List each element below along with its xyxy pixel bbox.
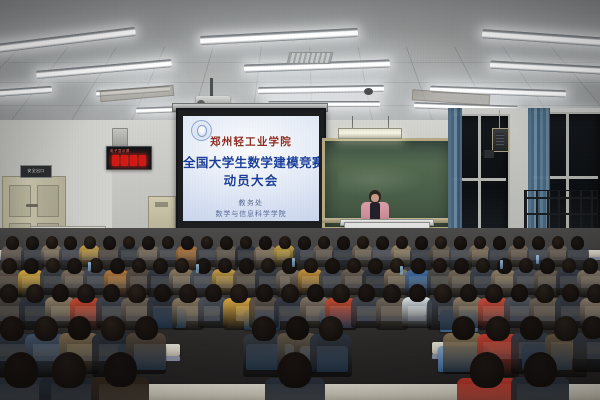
window-guardrail <box>524 190 598 232</box>
presenter-face <box>371 194 379 202</box>
audience-member-head <box>34 316 58 341</box>
door-handle[interactable] <box>26 204 38 207</box>
audience-member-head <box>519 258 533 273</box>
audience-member-head <box>89 258 103 273</box>
water-bottle <box>500 260 503 269</box>
audience-member-head <box>358 284 375 302</box>
audience-member-head <box>318 236 330 249</box>
audience-member-head <box>337 236 350 250</box>
audience-member-head <box>259 236 272 250</box>
audience-member-head <box>513 236 525 249</box>
audience-member-head <box>128 284 146 303</box>
speaker-wire <box>499 110 500 128</box>
audience-member-head <box>84 236 96 249</box>
audience-member-head <box>135 316 158 340</box>
audience-member-head <box>460 284 477 302</box>
audience-member-head <box>68 316 91 340</box>
audience-member-head <box>153 258 168 274</box>
audience-member-head <box>104 352 137 387</box>
audience-member-head <box>493 236 506 250</box>
audience-member-head <box>583 258 598 274</box>
audience-member-head <box>6 236 19 250</box>
audience-member-head <box>162 236 174 249</box>
audience-member-head <box>67 258 82 274</box>
presentation-slide: 郑州轻工业学院 全国大学生数学建模竞赛 动员大会 教务处 数学与信息科学学院 <box>183 116 319 221</box>
wall-speaker <box>492 128 509 152</box>
water-bottle <box>196 264 199 273</box>
led-digit <box>130 155 137 166</box>
red-led-display: 电子显示屏 <box>106 146 152 170</box>
audience-member-head <box>452 316 475 340</box>
audience-member-head <box>123 236 135 249</box>
audience-member-head <box>181 236 194 250</box>
audience-member-head <box>409 284 426 302</box>
audience-member-head <box>46 236 58 249</box>
audience-member-head <box>220 236 233 250</box>
audience-member-head <box>77 284 95 303</box>
wall-utility-box <box>148 196 176 232</box>
led-digit <box>112 155 119 166</box>
slide-title-line1: 全国大学生数学建模竞赛 <box>183 152 319 171</box>
audience-member-head <box>261 258 275 273</box>
audience-member-head <box>132 258 146 273</box>
audience-member-head <box>103 284 120 302</box>
water-bottle <box>536 255 539 264</box>
audience-member-head <box>286 316 309 340</box>
audience-member-head <box>304 258 318 273</box>
audience-member-head <box>179 284 197 303</box>
audience-member-head <box>110 258 125 274</box>
door-panel <box>37 185 59 217</box>
lecture-hall-photo: 安全出口 电子显示屏 郑州轻工业学院 全国大学生数学建模竞赛 动员大会 教务处 … <box>0 0 600 400</box>
water-bottle <box>88 262 91 271</box>
audience-member-head <box>562 258 576 273</box>
audience-member-head <box>552 236 564 249</box>
audience-member-head <box>434 284 452 303</box>
exit-sign-label: 安全出口 <box>21 168 51 174</box>
audience-member-head <box>46 258 60 273</box>
audience-member-head <box>26 236 39 250</box>
board-light-wire <box>388 116 389 128</box>
audience-member-head <box>26 284 44 303</box>
surveillance-camera-icon <box>484 150 494 158</box>
slide-title-line2: 动员大会 <box>183 170 319 189</box>
audience-member-head <box>554 316 578 341</box>
projection-screen: 郑州轻工业学院 全国大学生数学建模竞赛 动员大会 教务处 数学与信息科学学院 <box>176 108 326 230</box>
slide-dept-line1: 教务处 <box>183 198 319 208</box>
audience-member-head <box>239 258 254 274</box>
audience-member-head <box>218 258 232 273</box>
audience-member-head <box>279 236 291 249</box>
audience-member-head <box>0 284 18 303</box>
led-digit <box>121 155 128 166</box>
audience-member-head <box>368 258 383 274</box>
audience-member-head <box>52 284 69 302</box>
audience-member-head <box>154 284 171 302</box>
audience-member-head <box>511 284 528 302</box>
audience-member-head <box>486 316 510 341</box>
audience-member-head <box>485 284 503 303</box>
audience-member-head <box>103 236 116 250</box>
audience-member-head <box>2 258 17 274</box>
projector-mount-arm <box>210 78 213 98</box>
audience-member-head <box>230 284 248 303</box>
audience-member-head <box>201 236 213 249</box>
audience-member-head <box>562 284 579 302</box>
audience-member-head <box>325 258 340 274</box>
audience-member-head <box>571 236 584 250</box>
audience-member-head <box>536 284 554 303</box>
audience-member-head <box>252 316 276 341</box>
audience-member-head <box>64 236 77 250</box>
audience-member-head <box>142 236 155 250</box>
audience-member-head <box>4 352 38 388</box>
audience-member-head <box>476 258 490 273</box>
audience-member-head <box>357 236 369 249</box>
audience-member-head <box>582 316 600 339</box>
audience-member-head <box>101 316 125 341</box>
audience-member-head <box>520 316 543 340</box>
audience-member-head <box>587 284 600 303</box>
audience-member-head <box>205 284 222 302</box>
audience-member-head <box>240 236 252 249</box>
audience-member-head <box>411 258 426 274</box>
window-mullion <box>478 114 481 234</box>
audience-member-head <box>175 258 189 273</box>
audience-member-head <box>396 236 408 249</box>
exit-sign: 安全出口 <box>20 165 52 178</box>
audience-member-head <box>435 236 447 249</box>
audience-member-head <box>433 258 447 273</box>
audience-member-head <box>307 284 324 302</box>
audience-member-head <box>540 258 555 274</box>
smoke-detector-icon <box>364 88 373 95</box>
slide-university-name: 郑州轻工业学院 <box>183 134 319 149</box>
audience-member-head <box>278 352 312 388</box>
board-light-wire <box>352 116 353 128</box>
audience-member-head <box>319 316 343 341</box>
chalkboard-light <box>338 128 402 139</box>
led-digit-group <box>110 154 148 166</box>
audience-member-head <box>415 236 428 250</box>
slide-dept-line2: 数学与信息科学学院 <box>183 209 319 219</box>
audience-member-head <box>383 284 401 303</box>
audience-member-head <box>470 352 504 388</box>
audience-member-head <box>0 316 24 341</box>
audience-member-head <box>24 258 39 274</box>
audience-member-head <box>347 258 361 273</box>
audience-member-head <box>454 258 469 274</box>
audience-member-head <box>298 236 311 250</box>
led-display-caption: 电子显示屏 <box>110 148 130 153</box>
audience-member-head <box>376 236 389 250</box>
audience-area: LIMITED <box>0 228 600 400</box>
audience-member-head <box>454 236 467 250</box>
audience-member-head <box>524 352 557 387</box>
ceiling-air-vent <box>287 52 334 64</box>
wall-sensor-box <box>112 128 128 148</box>
audience-member-head <box>256 284 273 302</box>
water-bottle <box>400 266 403 275</box>
audience-member-head <box>52 352 86 388</box>
led-digit <box>139 155 146 166</box>
audience-member-head <box>332 284 350 303</box>
audience-member-head <box>281 284 299 303</box>
audience-member-head <box>532 236 545 250</box>
door-panel <box>9 185 31 217</box>
audience-member-head <box>474 236 486 249</box>
water-bottle <box>292 258 295 267</box>
